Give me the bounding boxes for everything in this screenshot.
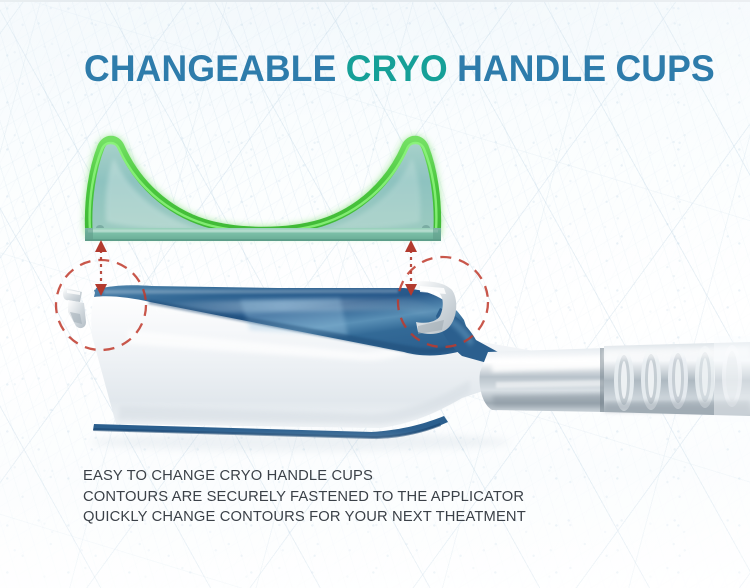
corrugated-hose (604, 336, 750, 422)
body-copy: EASY TO CHANGE CRYO HANDLE CUPS CONTOURS… (83, 466, 626, 528)
applicator-handpiece (63, 281, 540, 439)
cup-base-plate (85, 228, 441, 241)
body-copy-line-2: CONTOURS ARE SECURELY FASTENED TO THE AP… (83, 487, 626, 508)
cryo-handle-cup (86, 137, 441, 236)
body-copy-line-1: EASY TO CHANGE CRYO HANDLE CUPS (83, 466, 626, 487)
poster-canvas: CHANGEABLECRYOHANDLECUPS (0, 0, 750, 588)
body-copy-line-3: QUICKLY CHANGE CONTOURS FOR YOUR NEXT TH… (83, 507, 626, 528)
chrome-neck (480, 348, 607, 412)
left-latch-clip (63, 288, 86, 328)
